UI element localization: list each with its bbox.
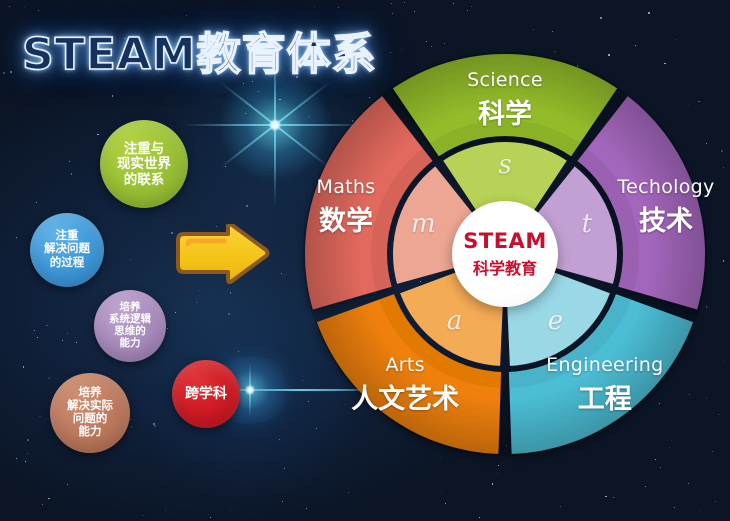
- wheel-segment-science[interactable]: [393, 54, 617, 156]
- bubble-red-text: 跨学科: [181, 386, 231, 402]
- bubble-brown-text: 培养解决实际问题的能力: [63, 387, 117, 439]
- bubble-interdisciplinary[interactable]: 跨学科: [172, 360, 240, 428]
- bubble-green-text: 注重与现实世界的联系: [113, 141, 175, 187]
- wheel-center-hub: STEAM 科学教育: [452, 201, 558, 307]
- bubble-real-world-connection[interactable]: 注重与现实世界的联系: [100, 120, 188, 208]
- poster-canvas: STEAM教育体系 注重与现实世界的联系 注重解决问题的过程 培养系统逻辑思维的…: [0, 0, 730, 521]
- bubble-practical-problem[interactable]: 培养解决实际问题的能力: [50, 373, 130, 453]
- forward-arrow-icon: [170, 224, 270, 284]
- bubble-purple-text: 培养系统逻辑思维的能力: [105, 302, 155, 350]
- bubble-systematic-logic[interactable]: 培养系统逻辑思维的能力: [94, 290, 166, 362]
- bubble-problem-solving-process[interactable]: 注重解决问题的过程: [30, 213, 104, 287]
- center-title-en: STEAM: [463, 229, 546, 253]
- center-title-cn: 科学教育: [473, 255, 537, 279]
- bubble-blue-text: 注重解决问题的过程: [40, 230, 94, 269]
- steam-wheel: Science科学Techology技术Engineering工程Arts人文艺…: [303, 52, 707, 456]
